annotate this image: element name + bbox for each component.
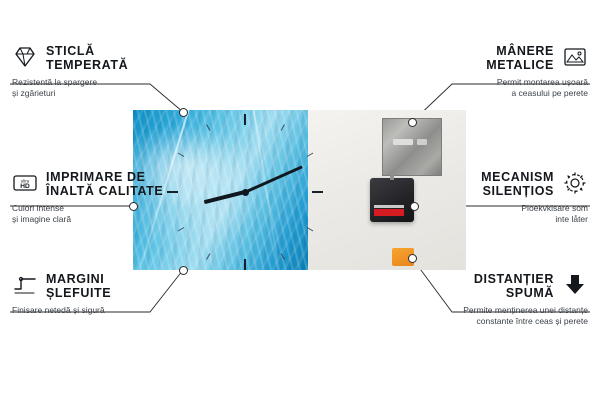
callout-desc: Permite menținerea unei distanțe constan… <box>378 305 588 327</box>
callout-title: IMPRIMARE DE ÎNALTĂ CALITATE <box>46 170 163 198</box>
callout-title: MECANISM SILENȚIOS <box>481 170 554 198</box>
clock-tick <box>206 253 210 260</box>
connector-dot <box>179 108 188 117</box>
picture-frame-icon <box>562 44 588 70</box>
clock-center-cap <box>242 189 249 196</box>
hanger-slot-2 <box>417 139 427 145</box>
callout-desc: Rezistentă la spargere și zgârieturi <box>12 77 192 99</box>
clock-tick <box>206 124 210 131</box>
hanger-slot-1 <box>393 139 413 145</box>
callout-title: STICLĂ TEMPERATĂ <box>46 44 128 72</box>
clock-tick <box>177 227 184 231</box>
clock-tick <box>306 227 313 231</box>
callout-sticla-temperata: STICLĂ TEMPERATĂ Rezistentă la spargere … <box>12 44 192 99</box>
callout-title: MARGINI ȘLEFUITE <box>46 272 111 300</box>
movement-shaft <box>390 171 394 180</box>
infographic-stage: STICLĂ TEMPERATĂ Rezistentă la spargere … <box>0 0 600 400</box>
callout-desc: Permit montarea ușoară a ceasului pe per… <box>408 77 588 99</box>
connector-dot <box>408 118 417 127</box>
clock-minute-hand <box>244 165 302 193</box>
polished-edges-icon <box>12 272 38 298</box>
clock-tick <box>306 153 313 157</box>
callout-title: MÂNERE METALICE <box>486 44 554 72</box>
down-arrow-icon <box>562 272 588 298</box>
callout-margini-slefuite: MARGINI ȘLEFUITE Finisare netedă și sigu… <box>12 272 202 316</box>
clock-tick <box>280 124 284 131</box>
connector-dot <box>408 254 417 263</box>
clock-tick <box>280 253 284 260</box>
clock-hour-hand <box>204 190 246 204</box>
gear-icon <box>562 170 588 196</box>
callout-mecanism-silentios: MECANISM SILENȚIOS Ploekvkisare som inte… <box>400 170 588 225</box>
clock-tick <box>244 259 246 270</box>
clock-tick <box>244 114 246 125</box>
callout-title: DISTANȚIER SPUMĂ <box>474 272 554 300</box>
callout-distantier-spuma: DISTANȚIER SPUMĂ Permite menținerea unei… <box>378 272 588 327</box>
callout-desc: Culori intense și imagine clară <box>12 203 202 225</box>
callout-imprimare-hd: ultra HD IMPRIMARE DE ÎNALTĂ CALITATE Cu… <box>12 170 202 225</box>
clock-tick <box>312 191 323 193</box>
svg-text:HD: HD <box>20 183 30 190</box>
callout-manere-metalice: MÂNERE METALICE Permit montarea ușoară a… <box>408 44 588 99</box>
diamond-icon <box>12 44 38 70</box>
callout-desc: Ploekvkisare som inte låter <box>400 203 588 225</box>
clock-tick <box>177 153 184 157</box>
ultra-hd-icon: ultra HD <box>12 170 38 196</box>
callout-desc: Finisare netedă și sigură <box>12 305 202 316</box>
